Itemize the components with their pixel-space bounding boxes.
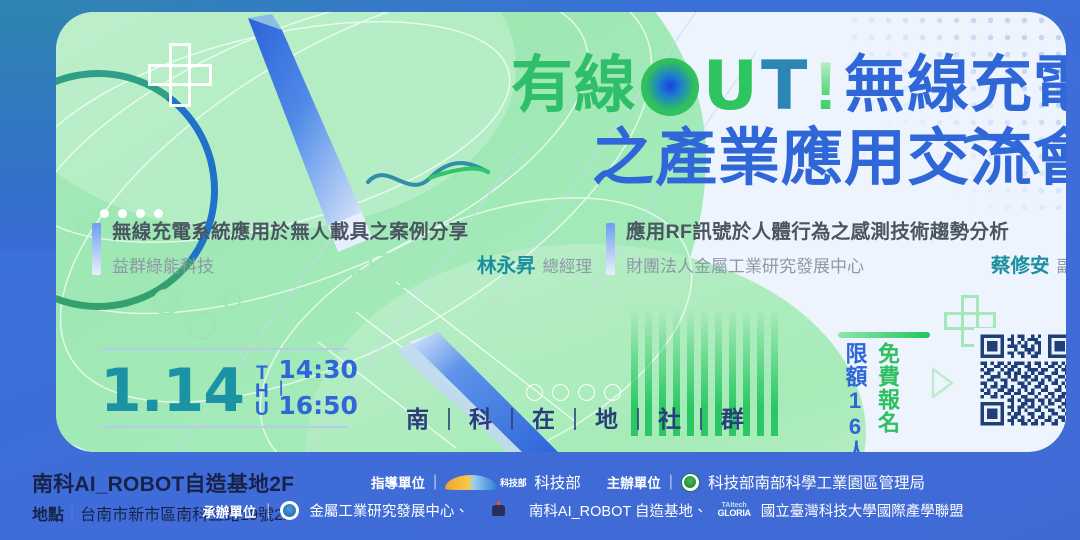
community-separator: | <box>698 404 706 431</box>
main-card: 有線 U T ! 無線充電 之產業應用交流會 無線充電系統應用於無人載具之案例分… <box>56 12 1066 452</box>
out-letter-o-icon <box>641 58 699 116</box>
most-logo-text: 科技部 <box>500 476 526 489</box>
sponsor-name: 科技部南部科學工業園區管理局 <box>708 471 925 493</box>
event-weekday: THU <box>253 363 269 417</box>
community-separator: | <box>635 404 643 431</box>
most-logo-icon: 科技部 <box>445 475 526 490</box>
sponsor-row-1: 指導單位 | 科技部 科技部 主辦單位 | 科技部南部科學工業園區管理局 <box>0 471 1066 493</box>
play-triangle-icon <box>930 366 954 400</box>
session-organization: 財團法人金屬工業研究發展中心 <box>626 252 864 277</box>
community-char-3: 地 <box>595 400 620 434</box>
sponsor-label: 承辦單位 <box>202 501 256 521</box>
session-accent-bar <box>606 223 615 275</box>
session-item-2: 應用RF訊號於人體行為之感測技術趨勢分析 財團法人金屬工業研究發展中心 蔡修安 … <box>606 220 1066 278</box>
session-item-1: 無線充電系統應用於無人載具之案例分享 益群綠能科技 林永昇 總經理 <box>92 220 592 278</box>
small-circles-decoration <box>144 280 254 350</box>
event-time-end: 16:50 <box>278 393 358 418</box>
session-speaker-role: 副組長 <box>1057 253 1067 277</box>
ai-robot-logo-icon <box>479 502 519 520</box>
gloria-logo-bottom: GLORIA <box>718 509 751 518</box>
four-dots-decoration <box>100 209 163 218</box>
community-char-4: 社 <box>658 400 683 434</box>
blue-diagonal-bar-top <box>196 12 416 252</box>
session-speaker-name: 林永昇 <box>477 249 536 278</box>
community-char-2: 在 <box>532 400 557 434</box>
sponsor-row-2: 承辦單位 | 金屬工業研究發展中心、 南科AI_ROBOT 自造基地、 TAIt… <box>0 500 1066 521</box>
session-speaker-role: 總經理 <box>543 253 593 277</box>
community-char-0: 南 <box>406 400 431 434</box>
sponsor-name: 南科AI_ROBOT 自造基地、 <box>529 500 708 521</box>
community-separator: | <box>509 404 517 431</box>
sponsor-footer: 指導單位 | 科技部 科技部 主辦單位 | 科技部南部科學工業園區管理局 承辦單… <box>0 452 1080 540</box>
community-separator: | <box>446 404 454 431</box>
event-time: 14:30 | 16:50 <box>278 357 358 418</box>
sponsor-divider: | <box>669 473 673 491</box>
sponsor-label: 主辦單位 <box>607 472 661 492</box>
session-accent-bar <box>92 223 101 275</box>
poster-title: 有線 U T ! 無線充電 之產業應用交流會 <box>386 50 1066 194</box>
event-time-start: 14:30 <box>278 357 358 382</box>
date-row: 1.14 THU 14:30 | 16:50 <box>100 350 358 426</box>
sponsor-divider: | <box>266 502 270 520</box>
out-letter-u: U <box>703 50 759 123</box>
event-date: 1.14 <box>100 364 244 419</box>
registration-block: 限額16人 免費報名 <box>842 342 900 452</box>
registration-qr-code[interactable] <box>974 328 1066 432</box>
community-separator: | <box>572 404 580 431</box>
poster-root: 有線 U T ! 無線充電 之產業應用交流會 無線充電系統應用於無人載具之案例分… <box>0 0 1080 540</box>
session-title: 無線充電系統應用於無人載具之案例分享 <box>112 220 592 244</box>
session-title: 應用RF訊號於人體行為之感測技術趨勢分析 <box>626 220 1066 244</box>
event-date-block: 1.14 THU 14:30 | 16:50 <box>100 348 358 428</box>
sponsor-divider: | <box>433 473 437 491</box>
registration-free: 免費報名 <box>875 342 901 452</box>
sponsor-group-guidance: 指導單位 | 科技部 科技部 <box>371 471 581 493</box>
community-char-1: 科 <box>469 400 494 434</box>
registration-limit: 限額16人 <box>842 342 868 452</box>
mirdc-logo-icon <box>280 501 299 520</box>
community-char-5: 群 <box>721 400 746 434</box>
registration-accent-bar <box>838 332 930 338</box>
title-line1-prefix: 有線 <box>511 53 637 120</box>
sponsor-name: 科技部 <box>534 471 581 493</box>
wave-squiggle-decoration <box>364 156 494 196</box>
gloria-logo-icon: TAItech GLORIA <box>718 502 751 519</box>
session-speaker-name: 蔡修安 <box>991 249 1050 278</box>
out-letter-t: T <box>761 50 808 123</box>
community-banner: 南 | 科 | 在 | 地 | 社 | 群 <box>406 400 746 434</box>
stsp-logo-icon <box>681 473 700 492</box>
sponsor-group-host: 主辦單位 | 科技部南部科學工業園區管理局 <box>607 471 925 493</box>
session-organization: 益群綠能科技 <box>112 252 214 277</box>
session-speaker-row: 益群綠能科技 林永昇 總經理 <box>112 249 592 278</box>
session-speaker-row: 財團法人金屬工業研究發展中心 蔡修安 副組長 <box>626 249 1066 278</box>
out-exclamation: ! <box>810 50 842 123</box>
session-list: 無線充電系統應用於無人載具之案例分享 益群綠能科技 林永昇 總經理 應用RF訊號… <box>92 220 1066 278</box>
ring-dots-decoration <box>526 384 621 401</box>
title-line-1: 有線 U T ! 無線充電 <box>386 50 1066 123</box>
sponsor-label: 指導單位 <box>371 472 425 492</box>
sponsor-name: 國立臺灣科技大學國際產學聯盟 <box>761 500 964 521</box>
sponsor-name: 金屬工業研究發展中心、 <box>309 500 469 521</box>
title-line1-suffix: 無線充電 <box>844 53 1066 120</box>
